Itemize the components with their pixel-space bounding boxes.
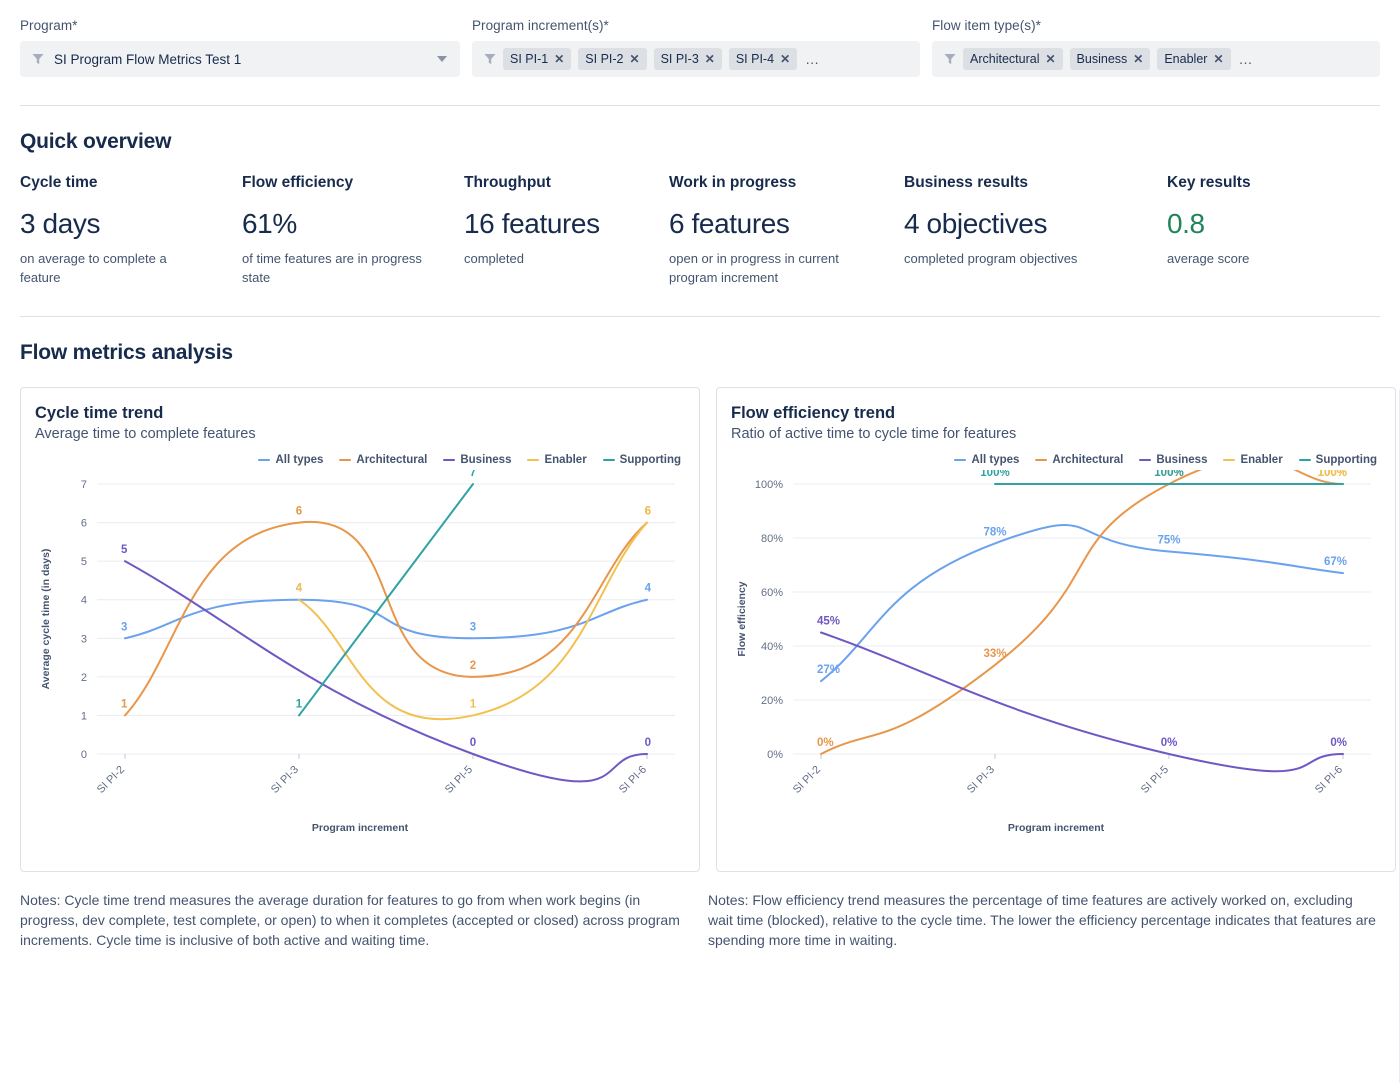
- stat-value: 6 features: [669, 208, 904, 240]
- chip-remove-icon[interactable]: ✕: [1045, 53, 1055, 65]
- legend-swatch-icon: [603, 459, 615, 461]
- stat-value: 61%: [242, 208, 464, 240]
- legend-label: Architectural: [1052, 454, 1123, 466]
- program-select[interactable]: SI Program Flow Metrics Test 1: [20, 41, 460, 77]
- legend-label: Supporting: [1316, 454, 1377, 466]
- data-point-label: 5: [121, 544, 128, 556]
- stat-description: of time features are in progress state: [242, 250, 427, 288]
- card-title: Cycle time trend: [35, 404, 685, 423]
- flow-efficiency-line-chart: Flow efficiency0%20%40%60%80%100%SI PI-2…: [731, 470, 1381, 820]
- legend-swatch-icon: [954, 459, 966, 461]
- flow-item-type-chips: Architectural✕ Business✕ Enabler✕ …: [963, 48, 1254, 70]
- legend-item-supporting[interactable]: Supporting: [603, 454, 681, 466]
- data-point-label: 100%: [1318, 470, 1347, 479]
- y-tick-label: 20%: [761, 695, 783, 707]
- legend-swatch-icon: [339, 459, 351, 461]
- series-line-all-types[interactable]: [821, 525, 1343, 681]
- chip-architectural[interactable]: Architectural✕: [963, 48, 1063, 70]
- chart-legend: All typesArchitecturalBusinessEnablerSup…: [731, 454, 1381, 466]
- y-tick-label: 40%: [761, 641, 783, 653]
- data-point-label: 1: [470, 698, 477, 710]
- flow-metrics-dashboard: Program* SI Program Flow Metrics Test 1 …: [0, 0, 1400, 1083]
- legend-item-all-types[interactable]: All types: [258, 454, 323, 466]
- stat-cycle-time: Cycle time 3 days on average to complete…: [20, 174, 242, 288]
- notes-row: Notes: Cycle time trend measures the ave…: [0, 872, 1400, 951]
- legend-label: Business: [460, 454, 511, 466]
- y-tick-label: 80%: [761, 533, 783, 545]
- stat-description: open or in progress in current program i…: [669, 250, 854, 288]
- filter-funnel-icon: [31, 52, 45, 66]
- y-axis-title: Flow efficiency: [736, 581, 748, 656]
- program-increments-select[interactable]: SI PI-1✕ SI PI-2✕ SI PI-3✕ SI PI-4✕ …: [472, 41, 920, 77]
- y-tick-label: 3: [81, 633, 87, 645]
- data-point-label: 2: [470, 660, 476, 672]
- legend-label: All types: [971, 454, 1019, 466]
- legend-swatch-icon: [527, 459, 539, 461]
- data-point-label: 75%: [1157, 534, 1180, 546]
- legend-swatch-icon: [1223, 459, 1235, 461]
- stat-value: 0.8: [1167, 208, 1367, 240]
- legend-label: Enabler: [1240, 454, 1282, 466]
- charts-row: Cycle time trend Average time to complet…: [0, 365, 1400, 872]
- y-tick-label: 60%: [761, 587, 783, 599]
- stat-description: completed program objectives: [904, 250, 1089, 269]
- y-tick-label: 100%: [755, 479, 783, 491]
- x-tick-label: SI PI-6: [617, 763, 649, 795]
- stat-description: completed: [464, 250, 649, 269]
- chart-plot-cycle-time: Average cycle time (in days)01234567SI P…: [35, 470, 685, 820]
- chip-label: Enabler: [1164, 52, 1207, 66]
- data-point-label: 0%: [1330, 737, 1347, 749]
- y-tick-label: 2: [81, 672, 87, 684]
- y-tick-label: 0%: [767, 749, 783, 761]
- stat-label: Cycle time: [20, 174, 242, 192]
- stat-description: average score: [1167, 250, 1352, 269]
- legend-label: Architectural: [356, 454, 427, 466]
- chip-business[interactable]: Business✕: [1070, 48, 1151, 70]
- stat-label: Work in progress: [669, 174, 904, 192]
- data-point-label: 67%: [1324, 556, 1347, 568]
- y-tick-label: 4: [81, 594, 87, 606]
- quick-overview-stats: Cycle time 3 days on average to complete…: [0, 154, 1400, 288]
- y-tick-label: 5: [81, 556, 87, 568]
- chip-remove-icon[interactable]: ✕: [630, 53, 640, 65]
- chip-label: SI PI-2: [585, 52, 623, 66]
- chips-overflow-indicator[interactable]: …: [1238, 51, 1254, 67]
- chip-label: SI PI-4: [736, 52, 774, 66]
- chart-legend: All typesArchitecturalBusinessEnablerSup…: [35, 454, 685, 466]
- card-subtitle: Ratio of active time to cycle time for f…: [731, 426, 1381, 442]
- chip-label: SI PI-1: [510, 52, 548, 66]
- stat-value: 16 features: [464, 208, 669, 240]
- chip-remove-icon[interactable]: ✕: [554, 53, 564, 65]
- chart-plot-flow-efficiency: Flow efficiency0%20%40%60%80%100%SI PI-2…: [731, 470, 1381, 820]
- filter-program: Program* SI Program Flow Metrics Test 1: [20, 18, 460, 77]
- data-point-label: 0%: [817, 737, 834, 749]
- x-tick-label: SI PI-2: [791, 763, 823, 795]
- notes-flow-efficiency: Notes: Flow efficiency trend measures th…: [708, 872, 1380, 951]
- chip-remove-icon[interactable]: ✕: [705, 53, 715, 65]
- chip-label: Architectural: [970, 52, 1039, 66]
- stat-label: Flow efficiency: [242, 174, 464, 192]
- stat-throughput: Throughput 16 features completed: [464, 174, 669, 288]
- legend-item-business[interactable]: Business: [443, 454, 511, 466]
- legend-item-all-types[interactable]: All types: [954, 454, 1019, 466]
- x-tick-label: SI PI-5: [443, 763, 475, 795]
- chip-remove-icon[interactable]: ✕: [1213, 53, 1223, 65]
- chip-enabler[interactable]: Enabler✕: [1157, 48, 1230, 70]
- legend-item-enabler[interactable]: Enabler: [1223, 454, 1282, 466]
- stat-label: Business results: [904, 174, 1167, 192]
- x-tick-label: SI PI-3: [269, 763, 301, 795]
- data-point-label: 78%: [983, 526, 1006, 538]
- y-axis-title: Average cycle time (in days): [40, 548, 52, 689]
- stat-business-results: Business results 4 objectives completed …: [904, 174, 1167, 288]
- data-point-label: 33%: [983, 648, 1006, 660]
- flow-item-types-select[interactable]: Architectural✕ Business✕ Enabler✕ …: [932, 41, 1380, 77]
- data-point-label: 100%: [980, 470, 1009, 479]
- legend-label: Enabler: [544, 454, 586, 466]
- filter-funnel-icon: [943, 52, 957, 66]
- data-point-label: 3: [470, 621, 476, 633]
- x-tick-label: SI PI-5: [1139, 763, 1171, 795]
- card-title: Flow efficiency trend: [731, 404, 1381, 423]
- card-cycle-time-trend: Cycle time trend Average time to complet…: [20, 387, 700, 872]
- data-point-label: 0: [645, 737, 651, 749]
- program-increment-chips: SI PI-1✕ SI PI-2✕ SI PI-3✕ SI PI-4✕ …: [503, 48, 820, 70]
- legend-swatch-icon: [1139, 459, 1151, 461]
- stat-value: 4 objectives: [904, 208, 1167, 240]
- chevron-down-icon[interactable]: [437, 56, 447, 62]
- chip-label: SI PI-3: [661, 52, 699, 66]
- data-point-label: 0: [470, 737, 476, 749]
- legend-label: Business: [1156, 454, 1207, 466]
- cycle-time-line-chart: Average cycle time (in days)01234567SI P…: [35, 470, 685, 820]
- stat-work-in-progress: Work in progress 6 features open or in p…: [669, 174, 904, 288]
- x-tick-label: SI PI-3: [965, 763, 997, 795]
- filter-funnel-icon: [483, 52, 497, 66]
- legend-item-enabler[interactable]: Enabler: [527, 454, 586, 466]
- chip-pi-1[interactable]: SI PI-1✕: [503, 48, 571, 70]
- legend-item-business[interactable]: Business: [1139, 454, 1207, 466]
- legend-item-architectural[interactable]: Architectural: [339, 454, 427, 466]
- quick-overview-title: Quick overview: [0, 106, 1400, 154]
- stat-label: Key results: [1167, 174, 1367, 192]
- x-axis-title: Program increment: [35, 822, 685, 834]
- stat-value: 3 days: [20, 208, 242, 240]
- legend-item-supporting[interactable]: Supporting: [1299, 454, 1377, 466]
- data-point-label: 27%: [817, 664, 840, 676]
- chip-remove-icon[interactable]: ✕: [1133, 53, 1143, 65]
- legend-swatch-icon: [443, 459, 455, 461]
- data-point-label: 6: [296, 505, 302, 517]
- y-tick-label: 0: [81, 749, 87, 761]
- program-select-value: SI Program Flow Metrics Test 1: [51, 52, 241, 67]
- filter-flow-item-types-label: Flow item type(s)*: [932, 18, 1380, 33]
- chip-pi-4[interactable]: SI PI-4✕: [729, 48, 797, 70]
- x-tick-label: SI PI-2: [95, 763, 127, 795]
- legend-swatch-icon: [1299, 459, 1311, 461]
- card-flow-efficiency-trend: Flow efficiency trend Ratio of active ti…: [716, 387, 1396, 872]
- y-tick-label: 6: [81, 517, 87, 529]
- legend-swatch-icon: [258, 459, 270, 461]
- legend-item-architectural[interactable]: Architectural: [1035, 454, 1123, 466]
- notes-cycle-time: Notes: Cycle time trend measures the ave…: [20, 872, 692, 951]
- flow-metrics-title: Flow metrics analysis: [0, 317, 1400, 365]
- data-point-label: 1: [121, 698, 128, 710]
- data-point-label: 7: [470, 470, 476, 479]
- y-tick-label: 7: [81, 479, 87, 491]
- data-point-label: 4: [645, 582, 652, 594]
- filter-bar: Program* SI Program Flow Metrics Test 1 …: [0, 0, 1400, 77]
- series-line-architectural[interactable]: [821, 470, 1343, 754]
- data-point-label: 0%: [1161, 737, 1178, 749]
- chip-pi-2[interactable]: SI PI-2✕: [578, 48, 646, 70]
- data-point-label: 4: [296, 582, 303, 594]
- stat-key-results: Key results 0.8 average score: [1167, 174, 1367, 288]
- data-point-label: 1: [296, 698, 303, 710]
- x-axis-title: Program increment: [731, 822, 1381, 834]
- stat-description: on average to complete a feature: [20, 250, 205, 288]
- filter-program-label: Program*: [20, 18, 460, 33]
- data-point-label: 45%: [817, 615, 840, 627]
- x-tick-label: SI PI-6: [1313, 763, 1345, 795]
- filter-program-increments: Program increment(s)* SI PI-1✕ SI PI-2✕ …: [472, 18, 920, 77]
- data-point-label: 6: [645, 505, 651, 517]
- chip-label: Business: [1077, 52, 1128, 66]
- chip-pi-3[interactable]: SI PI-3✕: [654, 48, 722, 70]
- filter-flow-item-types: Flow item type(s)* Architectural✕ Busine…: [932, 18, 1380, 77]
- data-point-label: 100%: [1154, 470, 1183, 479]
- data-point-label: 3: [121, 621, 127, 633]
- series-line-business[interactable]: [821, 632, 1343, 771]
- legend-label: All types: [275, 454, 323, 466]
- stat-label: Throughput: [464, 174, 669, 192]
- chips-overflow-indicator[interactable]: …: [804, 51, 820, 67]
- stat-flow-efficiency: Flow efficiency 61% of time features are…: [242, 174, 464, 288]
- legend-label: Supporting: [620, 454, 681, 466]
- filter-program-increments-label: Program increment(s)*: [472, 18, 920, 33]
- chip-remove-icon[interactable]: ✕: [780, 53, 790, 65]
- legend-swatch-icon: [1035, 459, 1047, 461]
- y-tick-label: 1: [81, 710, 87, 722]
- card-subtitle: Average time to complete features: [35, 426, 685, 442]
